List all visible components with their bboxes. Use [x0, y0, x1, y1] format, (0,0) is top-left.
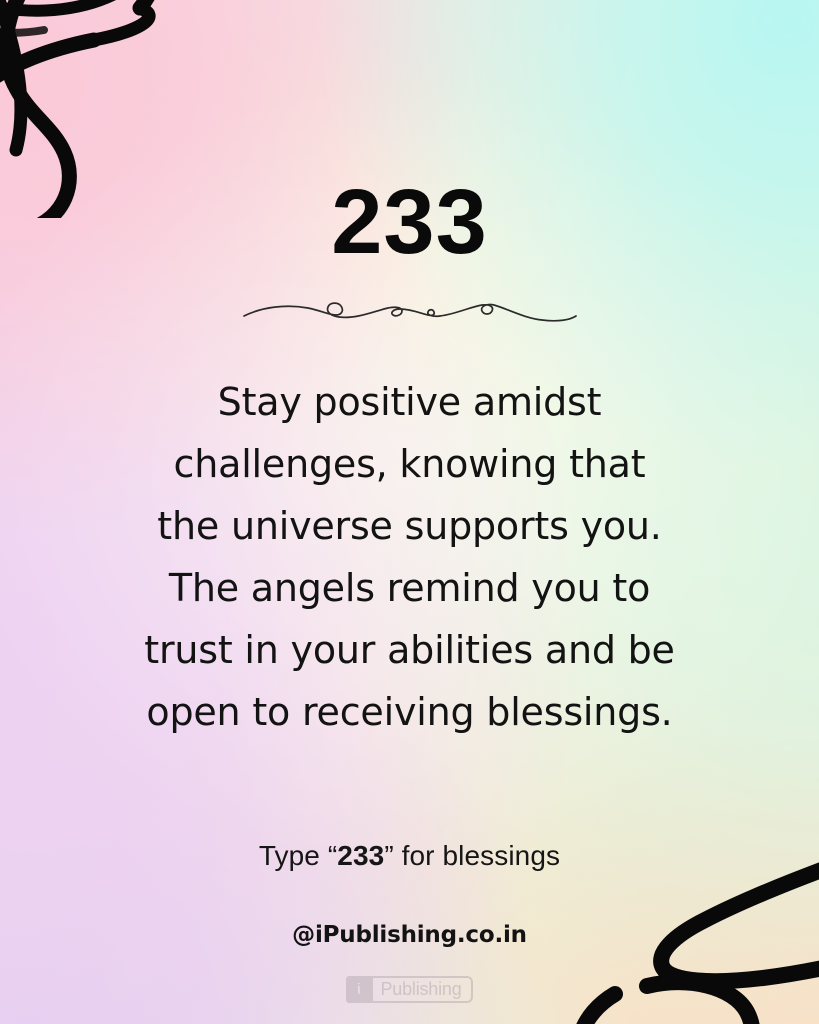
quote-text: Stay positive amidst challenges, knowing… [140, 372, 680, 744]
decorative-divider [242, 294, 578, 328]
cta-suffix: ” for blessings [384, 840, 560, 871]
card-content: 233 Stay positive amidst challenges, kno… [0, 0, 819, 1024]
cta-text: Type “233” for blessings [259, 840, 560, 872]
watermark-logo: i Publishing [346, 976, 472, 1003]
page-title: 233 [331, 176, 488, 268]
cta-prefix: Type “ [259, 840, 337, 871]
brand-handle: @iPublishing.co.in [292, 922, 527, 948]
watermark-wordmark: Publishing [371, 976, 472, 1003]
cta-number: 233 [337, 840, 384, 871]
watermark-mark-icon: i [346, 976, 371, 1003]
quote-card: 233 Stay positive amidst challenges, kno… [0, 0, 819, 1024]
